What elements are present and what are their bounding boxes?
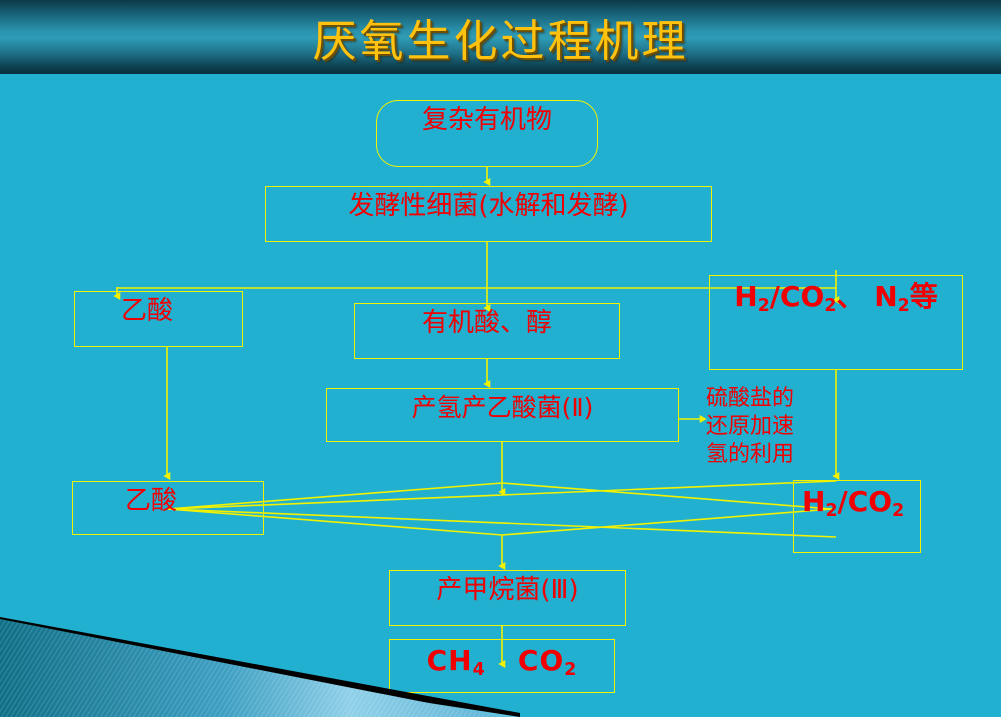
annotation-line-3: 氢的利用 bbox=[706, 441, 794, 469]
node-acetic-acid-bottom[interactable]: 乙酸 bbox=[72, 481, 264, 535]
corner-ornament bbox=[0, 597, 520, 717]
node-label: 有机酸、醇 bbox=[422, 304, 552, 358]
node-label: 产氢产乙酸菌(Ⅱ) bbox=[412, 389, 594, 441]
node-label: 发酵性细菌(水解和发酵) bbox=[348, 187, 628, 241]
annotation-sulfate-reduction: 硫酸盐的 还原加速 氢的利用 bbox=[706, 385, 794, 469]
node-acetic-acid-top[interactable]: 乙酸 bbox=[74, 291, 243, 347]
node-hydrogen-acetogenic-bacteria[interactable]: 产氢产乙酸菌(Ⅱ) bbox=[326, 388, 679, 442]
node-label: H2/CO2 bbox=[802, 481, 904, 520]
node-complex-organics[interactable]: 复杂有机物 bbox=[376, 100, 598, 167]
junction-diamond bbox=[168, 483, 832, 535]
node-organic-acid-alcohol[interactable]: 有机酸、醇 bbox=[354, 303, 620, 359]
node-label: 乙酸 bbox=[121, 292, 173, 346]
node-label: H2/CO2、 N2等 bbox=[734, 276, 938, 315]
node-h2-co2[interactable]: H2/CO2 bbox=[793, 480, 921, 553]
slide-canvas: 厌氧生化过程机理 bbox=[0, 0, 1001, 717]
node-fermentative-bacteria[interactable]: 发酵性细菌(水解和发酵) bbox=[265, 186, 712, 242]
node-h2-co2-n2[interactable]: H2/CO2、 N2等 bbox=[709, 275, 963, 370]
annotation-line-1: 硫酸盐的 bbox=[706, 385, 794, 413]
node-label: 乙酸 bbox=[125, 482, 177, 534]
annotation-line-2: 还原加速 bbox=[706, 413, 794, 441]
node-label: 复杂有机物 bbox=[422, 101, 552, 166]
junction-chord-lower bbox=[168, 509, 836, 537]
